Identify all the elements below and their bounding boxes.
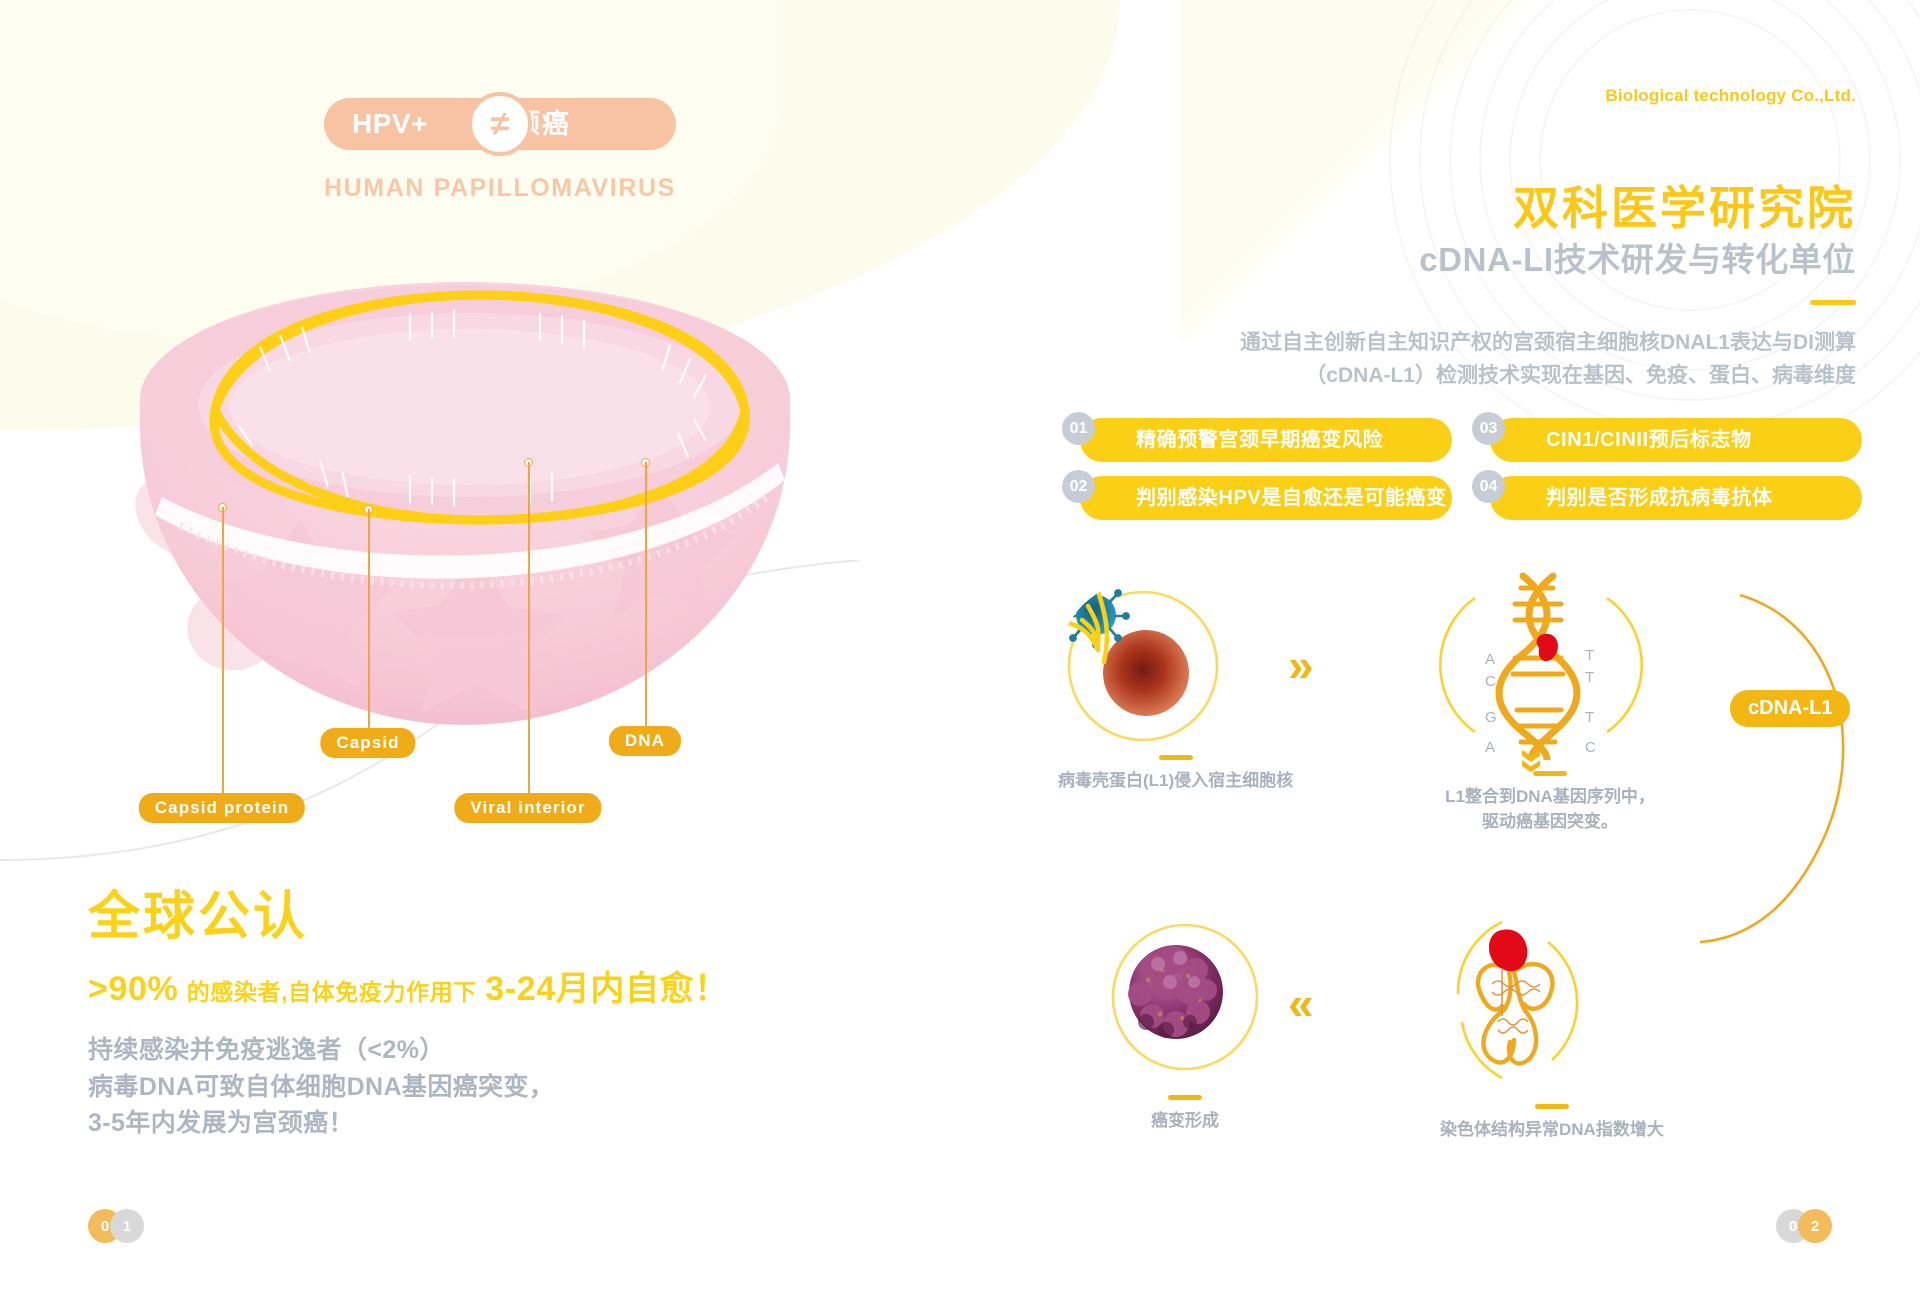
cdna-l1-badge: cDNA-L1	[1730, 690, 1850, 727]
feature-pill[interactable]: CIN1/CINII预后标志物	[1490, 418, 1862, 462]
flow-step-integration: A C G A T T T C L1整合到DNA基因序列中， 驱动癌基因突变。	[1435, 570, 1665, 834]
integration-caption-line-2: 驱动癌基因突变。	[1435, 810, 1665, 835]
feature-item-02[interactable]: 判别感染HPV是自愈还是可能癌变 02	[1062, 476, 1452, 520]
feature-label: 精确预警宫颈早期癌变风险	[1136, 430, 1383, 450]
logo-subtitle: HUMAN PAPILLOMAVIRUS	[324, 174, 676, 203]
chevron-back-icon: «	[1288, 980, 1314, 1026]
callout-stem	[528, 462, 530, 797]
description-line-1: 通过自主创新自主知识产权的宫颈宿主细胞核DNAL1表达与DI测算	[1240, 327, 1856, 360]
flow-step-tumor: 癌变形成	[1100, 920, 1270, 1134]
feature-item-01[interactable]: 精确预警宫颈早期癌变风险 01	[1062, 418, 1452, 462]
claim-duration-value: 3-24月内自愈！	[485, 970, 728, 1008]
claim-statistics-line: >90% 的感染者,自体免疫力作用下 3-24月内自愈！	[88, 961, 848, 1010]
flow-caption-tumor: 癌变形成	[1100, 1109, 1270, 1134]
caption-rule	[1535, 1104, 1569, 1109]
process-flow-diagram: 病毒壳蛋白(L1)侵入宿主细胞核 »	[1040, 580, 1890, 1100]
tumor-illustration	[1100, 920, 1270, 1090]
claim-percent-value: >90%	[88, 970, 178, 1008]
claim-heading: 全球公认	[88, 890, 848, 945]
company-tagline: Biological technology Co.,Ltd.	[1605, 86, 1856, 106]
chromosome-illustration	[1440, 910, 1640, 1095]
not-equal-icon: ≠	[468, 92, 532, 156]
callout-label-viral-interior[interactable]: Viral interior	[454, 793, 601, 823]
institute-title: 双科医学研究院	[1513, 185, 1856, 231]
feature-number-badge: 01	[1062, 412, 1095, 445]
feature-pill[interactable]: 精确预警宫颈早期癌变风险	[1080, 418, 1452, 462]
page-digit-secondary: 2	[1798, 1209, 1832, 1243]
page-number-left: 0 1	[88, 1209, 144, 1243]
claim-body-line-1: 持续感染并免疫逃逸者（<2%）	[88, 1032, 848, 1069]
feature-number-badge: 02	[1062, 470, 1095, 503]
flow-step-chromosome: 染色体结构异常DNA指数增大	[1440, 910, 1664, 1143]
logo-left-text: HPV+	[352, 110, 428, 138]
feature-item-04[interactable]: 判别是否形成抗病毒抗体 04	[1472, 476, 1862, 520]
callout-stem	[368, 509, 370, 732]
infographic-page: HPV+ 宫颈癌 ≠ HUMAN PAPILLOMAVIRUS	[0, 0, 1920, 1303]
callout-label-capsid-protein[interactable]: Capsid protein	[139, 793, 305, 823]
infection-illustration	[1058, 580, 1228, 750]
callout-label-dna[interactable]: DNA	[609, 726, 681, 756]
global-consensus-block: 全球公认 >90% 的感染者,自体免疫力作用下 3-24月内自愈！ 持续感染并免…	[88, 890, 848, 1142]
feature-pill[interactable]: 判别是否形成抗病毒抗体	[1490, 476, 1862, 520]
chevron-forward-icon: »	[1288, 642, 1314, 688]
caption-rule	[1168, 1095, 1202, 1100]
claim-body-line-3: 3-5年内发展为宫颈癌！	[88, 1105, 848, 1142]
callout-stem	[645, 462, 647, 730]
feature-number-badge: 04	[1472, 470, 1505, 503]
claim-body-line-2: 病毒DNA可致自体细胞DNA基因癌突变，	[88, 1069, 848, 1106]
feature-number-badge: 03	[1472, 412, 1505, 445]
dna-helix-illustration: A C G A T T T C	[1435, 570, 1665, 760]
hpv-logo: HPV+ 宫颈癌 ≠ HUMAN PAPILLOMAVIRUS	[324, 98, 676, 203]
svg-text:A: A	[1485, 651, 1495, 668]
claim-body-text: 持续感染并免疫逃逸者（<2%） 病毒DNA可致自体细胞DNA基因癌突变， 3-5…	[88, 1032, 848, 1142]
logo-pill: HPV+ 宫颈癌 ≠	[324, 98, 676, 150]
feature-list: 精确预警宫颈早期癌变风险 01 CIN1/CINII预后标志物 03 判别感染H…	[1062, 418, 1862, 520]
flow-step-infection: 病毒壳蛋白(L1)侵入宿主细胞核	[1058, 580, 1293, 794]
callout-stem	[222, 507, 224, 797]
svg-text:T: T	[1585, 669, 1594, 686]
svg-text:T: T	[1585, 647, 1594, 664]
page-digit-secondary: 1	[110, 1209, 144, 1243]
claim-percent-text: 的感染者,自体免疫力作用下	[187, 979, 477, 1005]
title-divider	[1810, 300, 1856, 305]
institute-subtitle: cDNA-LI技术研发与转化单位	[1419, 243, 1856, 276]
svg-text:C: C	[1585, 739, 1596, 756]
flow-caption-integration: L1整合到DNA基因序列中， 驱动癌基因突变。	[1435, 785, 1665, 834]
svg-text:C: C	[1485, 673, 1496, 690]
integration-caption-line-1: L1整合到DNA基因序列中，	[1435, 785, 1665, 810]
feature-pill[interactable]: 判别感染HPV是自愈还是可能癌变	[1080, 476, 1452, 520]
svg-text:G: G	[1485, 709, 1497, 726]
caption-rule	[1159, 755, 1193, 760]
feature-label: 判别感染HPV是自愈还是可能癌变	[1136, 488, 1447, 508]
chromosome-arms	[1478, 964, 1552, 1063]
callout-label-capsid[interactable]: Capsid	[320, 728, 415, 758]
flow-caption-infection: 病毒壳蛋白(L1)侵入宿主细胞核	[1058, 769, 1293, 794]
page-number-right: 0 2	[1776, 1209, 1832, 1243]
feature-label: CIN1/CINII预后标志物	[1546, 430, 1752, 450]
background-rings-decoration	[1360, 0, 1920, 480]
svg-text:A: A	[1485, 739, 1495, 756]
flow-caption-chromosome: 染色体结构异常DNA指数增大	[1440, 1118, 1664, 1143]
description-line-2: （cDNA-L1）检测技术实现在基因、免疫、蛋白、病毒维度	[1240, 360, 1856, 393]
chevron-down-icon: »	[1512, 748, 1558, 774]
feature-label: 判别是否形成抗病毒抗体	[1546, 488, 1773, 508]
feature-item-03[interactable]: CIN1/CINII预后标志物 03	[1472, 418, 1862, 462]
institute-description: 通过自主创新自主知识产权的宫颈宿主细胞核DNAL1表达与DI测算 （cDNA-L…	[1240, 327, 1856, 392]
svg-text:T: T	[1585, 709, 1594, 726]
